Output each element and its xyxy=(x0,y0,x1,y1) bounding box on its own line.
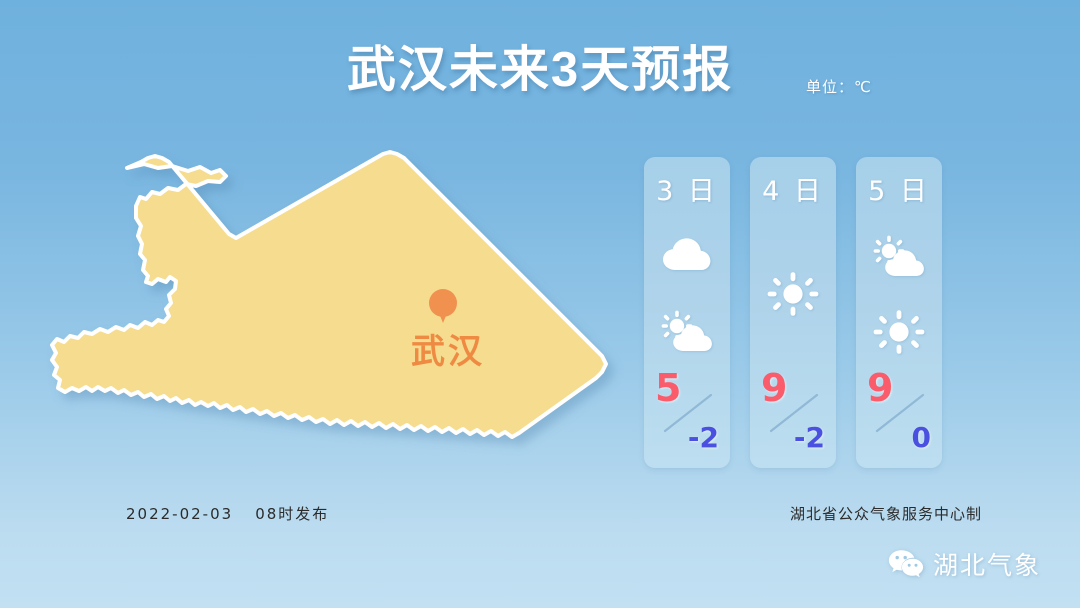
temperature-range: 9 0 xyxy=(856,366,942,454)
sunny-icon xyxy=(871,309,927,355)
page-title: 武汉未来3天预报 xyxy=(0,30,1080,101)
partly-sunny-icon xyxy=(871,234,927,280)
wechat-account-name: 湖北气象 xyxy=(933,546,1041,582)
source-attribution: 湖北省公众气象服务中心制 xyxy=(790,503,982,524)
low-temperature: 0 xyxy=(912,421,931,454)
sunny-icon xyxy=(765,271,821,317)
map-svg xyxy=(48,148,618,458)
wechat-account-badge: 湖北气象 xyxy=(888,546,1041,582)
forecast-icon-group xyxy=(750,219,836,369)
hubei-province-map: 武汉 xyxy=(48,148,618,458)
temperature-range: 9 -2 xyxy=(750,366,836,454)
forecast-card-day-5[interactable]: 5 日 xyxy=(856,157,942,468)
forecast-icon-group xyxy=(856,219,942,369)
forecast-icon-group xyxy=(644,219,730,369)
issue-time: 08时发布 xyxy=(255,505,329,523)
issue-date: 2022-02-03 xyxy=(126,505,233,523)
forecast-card-day-3[interactable]: 3 日 xyxy=(644,157,730,468)
forecast-day-label: 5 日 xyxy=(856,169,942,208)
low-temperature: -2 xyxy=(794,421,825,454)
forecast-day-label: 4 日 xyxy=(750,169,836,208)
wechat-icon xyxy=(888,549,924,579)
cloudy-icon xyxy=(659,234,715,280)
unit-label: 单位：℃ xyxy=(806,76,872,97)
issue-time-text: 2022-02-0308时发布 xyxy=(126,503,329,524)
low-temperature: -2 xyxy=(688,421,719,454)
forecast-card-list: 3 日 xyxy=(644,157,942,468)
partly-sunny-icon xyxy=(659,309,715,355)
hubei-outline-path xyxy=(52,152,606,437)
forecast-day-label: 3 日 xyxy=(644,169,730,208)
temperature-range: 5 -2 xyxy=(644,366,730,454)
forecast-card-day-4[interactable]: 4 日 9 xyxy=(750,157,836,468)
